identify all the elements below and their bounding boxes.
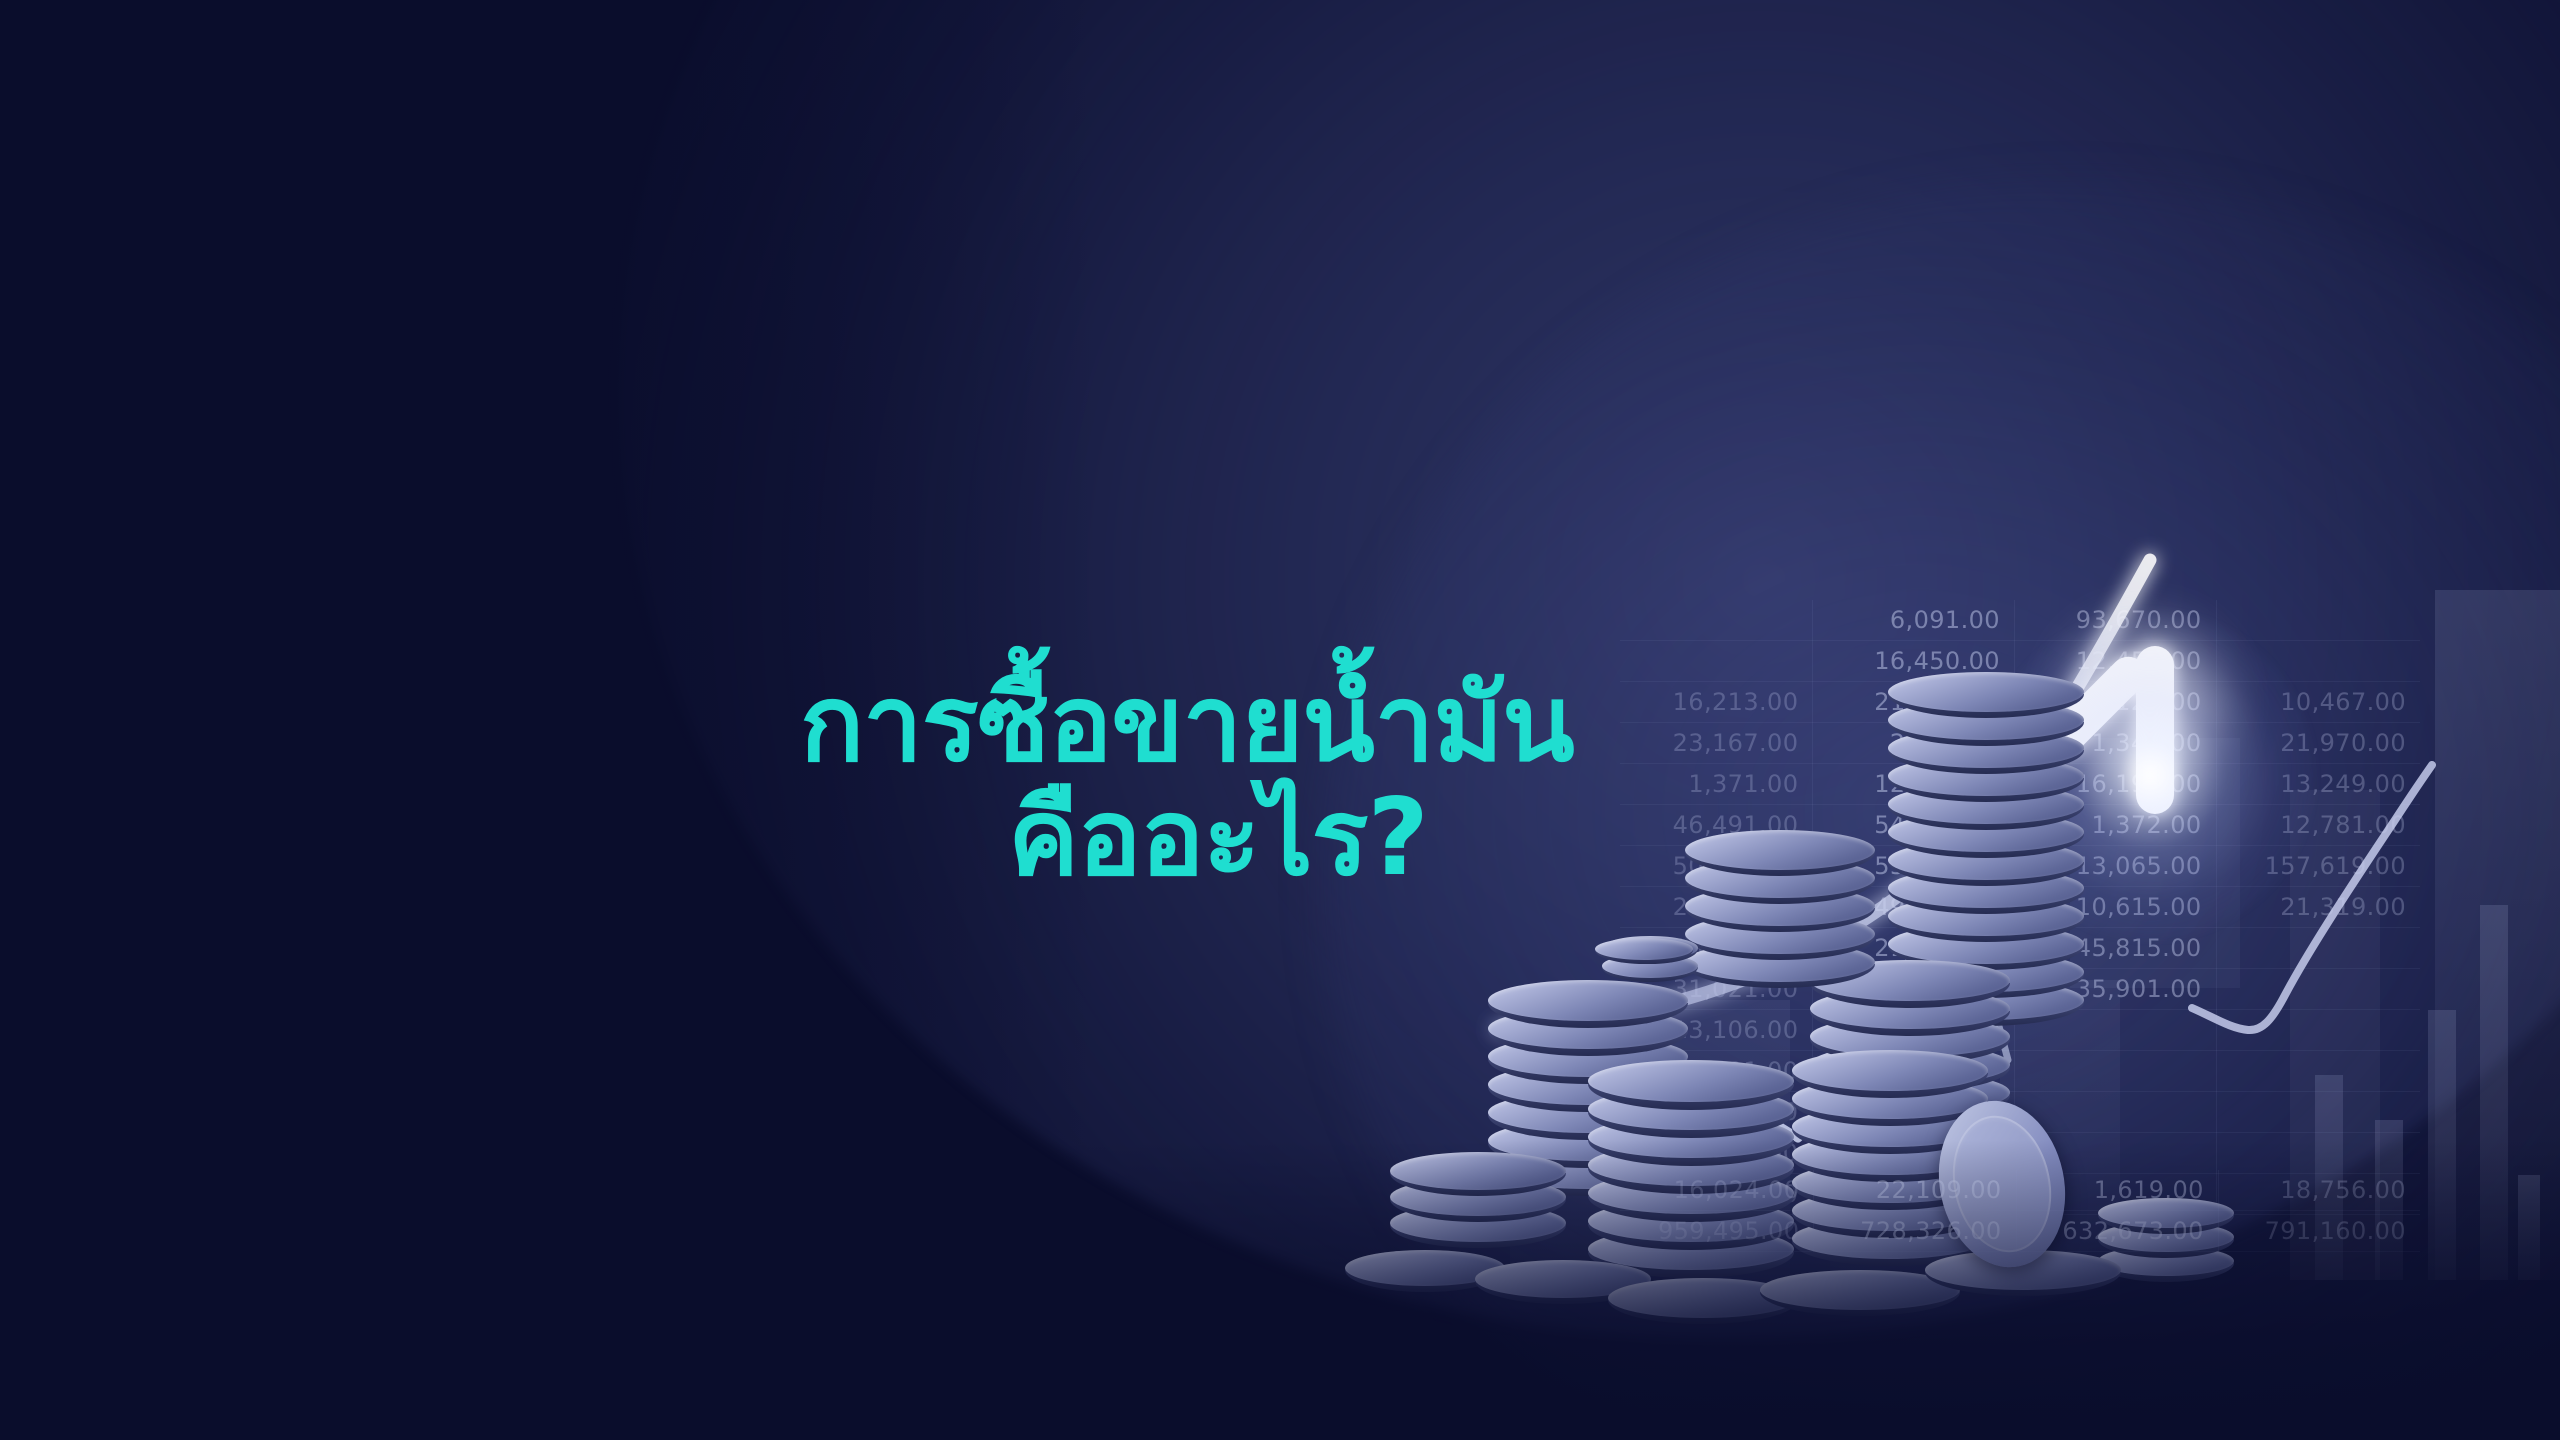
loose-coin-small <box>1595 938 1693 964</box>
background-bottom-fade <box>0 1140 2560 1440</box>
page-title: การซื้อขายน้ำมัน คืออะไร? <box>800 667 1800 896</box>
hero-banner: 6,091.0093,670.0016,450.0012,457.0016,21… <box>0 0 2560 1440</box>
headline-line-2: คืออะไร? <box>800 781 1800 895</box>
headline-line-1: การซื้อขายน้ำมัน <box>800 667 1800 781</box>
